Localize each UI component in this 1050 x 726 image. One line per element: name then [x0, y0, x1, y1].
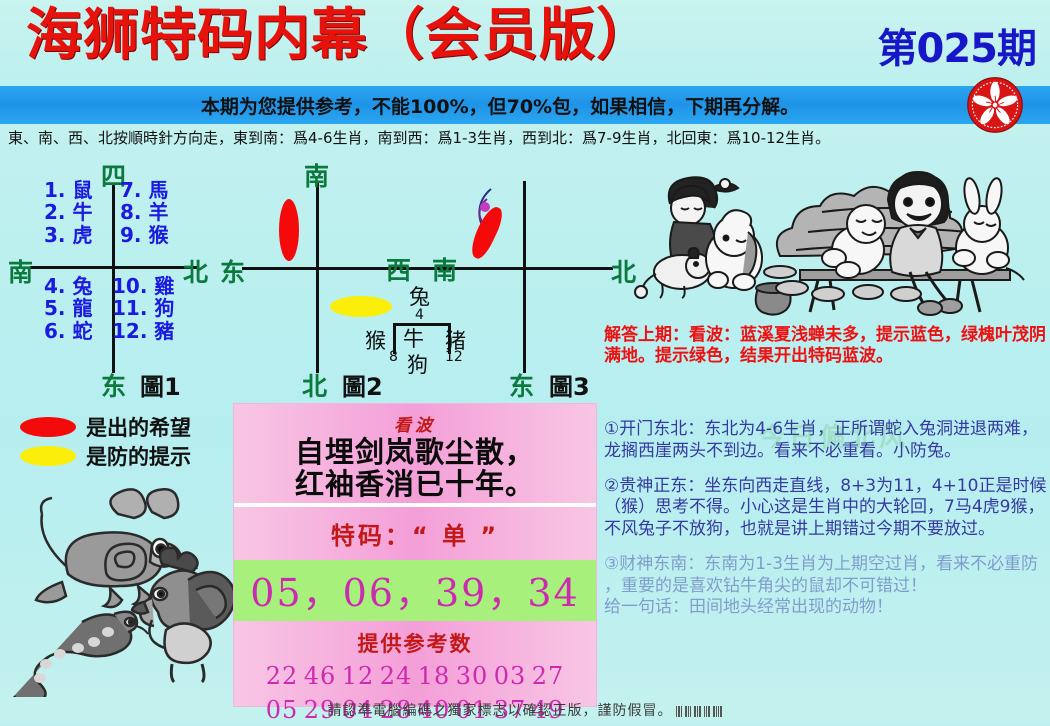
diagram-1-zodiac-group-br: 10. 雞 11. 狗 12. 豬 — [112, 275, 174, 342]
reference-number: 30 — [453, 661, 491, 692]
reference-number: 18 — [415, 661, 453, 692]
diagram-1-zodiac-group-tr: 7. 馬 8. 羊 9. 猴 — [120, 179, 168, 246]
list-item: 8. 羊 — [120, 201, 168, 223]
analysis-paragraph-1: ①开门东北：东北为4-6生肖，正所谓蛇入兔洞进退两难， 龙搁西崖两头不到边。看来… — [604, 419, 1048, 462]
reference-number: 46 — [301, 661, 339, 692]
diagram-3-caption: 圖3 — [549, 367, 590, 402]
reference-title: 提供参考数 — [234, 621, 596, 658]
paragraph-line: ，重要的是喜欢钻牛角尖的鼠却不可错过！ — [604, 576, 1048, 597]
paragraph-line: ③财神东南：东南为1-3生肖为上期空过肖，看来不必重防 — [604, 554, 1048, 575]
children-with-animals-cartoon-illustration — [630, 162, 1048, 322]
paragraph-line: ②贵神正东：坐东向西走直线，8+3为11，4+10正是时候 — [604, 476, 1048, 497]
diagram-2-label-top: 南 — [304, 157, 329, 193]
legend: 是出的希望 是防的提示 — [20, 412, 230, 470]
paragraph-line: 不风兔子不放狗，也就是讲上期错过今期不要放过。 — [604, 519, 1048, 540]
diagram-1-caption: 圖1 — [140, 367, 181, 402]
red-ellipse-marker — [279, 199, 299, 261]
legend-label: 是出的希望 — [86, 412, 191, 442]
cluster-bottom-animal: 狗 — [407, 349, 428, 379]
diagram-3-label-bottom: 东 — [509, 367, 534, 403]
zodiac-animal-illustrations — [10, 482, 240, 697]
list-item: 2. 牛 — [44, 201, 92, 223]
page-title: 海狮特码内幕（会员版） — [26, 8, 653, 64]
diagram-1-horizontal-axis — [30, 266, 198, 269]
footer: 請認準電腦編碼之獨家標志以確認正版，謹防假冒。 — [0, 700, 1050, 725]
diagram-2-label-bottom: 北 — [302, 367, 327, 403]
diagram-2-caption: 圖2 — [342, 367, 383, 402]
diagram-1-label-bottom: 东 — [101, 367, 126, 403]
red-ellipse-swatch-icon — [20, 417, 76, 437]
diagram-1-zodiac-group-bl: 4. 兔 5. 龍 6. 蛇 — [44, 275, 92, 342]
paragraph-line: 给一句话：田间地头经常出现的动物！ — [604, 597, 1048, 618]
reference-number: 22 — [263, 661, 301, 692]
poem-line-1: 自埋剑岚歌尘散， — [234, 437, 596, 468]
banner: 本期为您提供参考，不能100%，但70%包，如果相信，下期再分解。 — [0, 86, 1050, 124]
diagram-1: 四 南 北 东 圖1 1. 鼠 2. 牛 3. 虎 7. 馬 8. 羊 9. 猴… — [0, 163, 215, 398]
analysis-paragraph-2: ②贵神正东：坐东向西走直线，8+3为11，4+10正是时候 （猴）思考不得。小心… — [604, 476, 1048, 540]
list-item: 11. 狗 — [112, 297, 174, 319]
banner-text: 本期为您提供参考，不能100%，但70%包，如果相信，下期再分解。 — [201, 92, 799, 119]
reference-row-1: 2246122418300327 — [234, 658, 596, 692]
issue-number: 第025期 — [878, 16, 1037, 74]
diagram-2: 东 南 北 西 南 圖2 兔 4 猴 牛 猪 8 12 狗 — [220, 163, 490, 398]
list-item: 9. 猴 — [120, 224, 168, 246]
analysis-paragraph-3: ③财神东南：东南为1-3生肖为上期空过肖，看来不必重防 ，重要的是喜欢钻牛角尖的… — [604, 554, 1048, 618]
hk-bauhinia-emblem-icon — [966, 76, 1024, 134]
prediction-panel: 看波 自埋剑岚歌尘散， 红袖香消已十年。 特码：“ 单 ” 05，06，39，3… — [233, 403, 597, 707]
diagram-3-horizontal-axis — [477, 267, 613, 270]
legend-item-yellow: 是防的提示 — [20, 441, 230, 470]
previous-answer-line-2: 满地。提示绿色，结果开出特码蓝波。 — [604, 346, 1048, 367]
paragraph-line: 龙搁西崖两头不到边。看来不必重看。小防兔。 — [604, 441, 1048, 462]
direction-rule-text: 東、南、西、北按順時針方向走，東到南：爲4-6生肖，南到西：爲1-3生肖，西到北… — [8, 127, 1042, 148]
paragraph-line: （猴）思考不得。小心这是生肖中的大轮回，7马4虎9猴， — [604, 497, 1048, 518]
list-item: 12. 豬 — [112, 320, 174, 342]
cluster-right-number: 12 — [445, 349, 463, 365]
legend-item-red: 是出的希望 — [20, 412, 230, 441]
diagram-2-zodiac-cluster: 兔 4 猴 牛 猪 8 12 狗 — [365, 281, 485, 371]
poem-line-2: 红袖香消已十年。 — [234, 469, 596, 500]
diagram-3-vertical-axis — [523, 181, 526, 373]
paragraph-line: ①开门东北：东北为4-6生肖，正所谓蛇入兔洞进退两难， — [604, 419, 1048, 440]
footer-text: 請認準電腦編碼之獨家標志以確認正版，謹防假冒。 — [328, 703, 673, 719]
cluster-top-number: 4 — [415, 307, 424, 323]
list-item: 6. 蛇 — [44, 320, 92, 342]
barcode-icon — [676, 702, 723, 721]
list-item: 4. 兔 — [44, 275, 92, 297]
diagram-2-label-left: 东 — [220, 253, 245, 289]
cluster-left-number: 8 — [389, 349, 398, 365]
header: 海狮特码内幕（会员版） 第025期 — [0, 0, 1050, 86]
reference-number: 27 — [529, 661, 567, 692]
tema-label: 特码：“ 单 ” — [234, 507, 596, 560]
snake-illustration — [14, 612, 148, 697]
list-item: 3. 虎 — [44, 224, 92, 246]
reference-number: 24 — [377, 661, 415, 692]
reference-number: 03 — [491, 661, 529, 692]
previous-answer-line-1: 解答上期：看波：蓝溪夏浅蝉未多，提示蓝色，绿槐叶茂阴 — [604, 325, 1048, 346]
kanbo-title: 看波 — [234, 411, 596, 436]
diagram-1-label-left: 南 — [8, 253, 33, 289]
list-item: 5. 龍 — [44, 297, 92, 319]
list-item: 7. 馬 — [120, 179, 168, 201]
yellow-ellipse-swatch-icon — [20, 446, 76, 466]
list-item: 10. 雞 — [112, 275, 174, 297]
analysis-column: 解答上期：看波：蓝溪夏浅蝉未多，提示蓝色，绿槐叶茂阴 满地。提示绿色，结果开出特… — [604, 325, 1048, 618]
diagram-2-vertical-axis — [316, 181, 319, 373]
main-numbers: 05，06，39，34 — [234, 560, 596, 621]
diagram-1-zodiac-group-tl: 1. 鼠 2. 牛 3. 虎 — [44, 179, 92, 246]
diagram-1-label-right: 北 — [183, 253, 208, 289]
list-item: 1. 鼠 — [44, 179, 92, 201]
legend-label: 是防的提示 — [86, 441, 191, 471]
poster-root: 海狮特码内幕（会员版） 第025期 本期为您提供参考，不能100%，但70%包，… — [0, 0, 1050, 725]
reference-number: 12 — [339, 661, 377, 692]
cluster-left-animal: 猴 — [365, 325, 386, 355]
